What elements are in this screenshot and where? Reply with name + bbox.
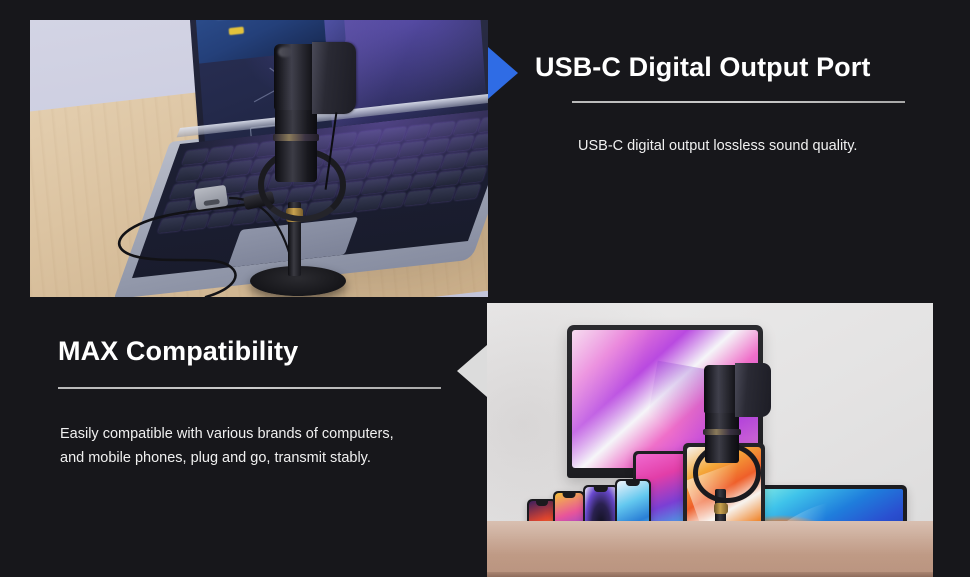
phone-notch xyxy=(536,501,548,506)
max-compatibility-body: Easily compatible with various brands of… xyxy=(60,423,458,470)
gray-arrow-left-icon xyxy=(457,345,487,397)
usb-c-output-text-block: USB-C Digital Output Port USB-C digital … xyxy=(535,52,935,159)
usb-cable xyxy=(30,20,488,297)
phone-notch xyxy=(594,487,608,492)
usb-c-output-headline: USB-C Digital Output Port xyxy=(535,52,935,83)
max-compatibility-body-line-1: Easily compatible with various brands of… xyxy=(60,426,394,442)
microphone-accent-ring xyxy=(703,429,741,435)
microphone-body xyxy=(275,106,317,182)
max-compatibility-text-block: MAX Compatibility Easily compatible with… xyxy=(58,336,458,470)
phone-notch xyxy=(626,481,640,486)
usb-c-adapter xyxy=(194,185,229,210)
max-compatibility-headline: MAX Compatibility xyxy=(58,336,458,367)
microphone-pop-shield xyxy=(312,42,356,114)
max-compatibility-photo xyxy=(487,303,933,577)
desk-reflection xyxy=(487,521,933,577)
max-compatibility-divider xyxy=(58,387,441,389)
microphone-accent-ring xyxy=(273,134,319,141)
wooden-desk-surface xyxy=(487,521,933,577)
microphone-pop-shield xyxy=(735,363,771,417)
microphone-adjust-knob xyxy=(714,503,728,514)
phone-notch xyxy=(563,493,576,498)
usb-c-output-body: USB-C digital output lossless sound qual… xyxy=(578,135,935,158)
max-compatibility-body-line-2: and mobile phones, plug and go, transmit… xyxy=(60,450,371,466)
microphone-body xyxy=(705,407,739,463)
blue-arrow-right-icon xyxy=(488,47,518,99)
usb-c-output-photo xyxy=(30,20,488,297)
product-feature-banner: USB-C Digital Output Port USB-C digital … xyxy=(0,0,970,577)
usb-c-output-divider xyxy=(572,101,905,103)
desk-front-edge xyxy=(487,572,933,577)
